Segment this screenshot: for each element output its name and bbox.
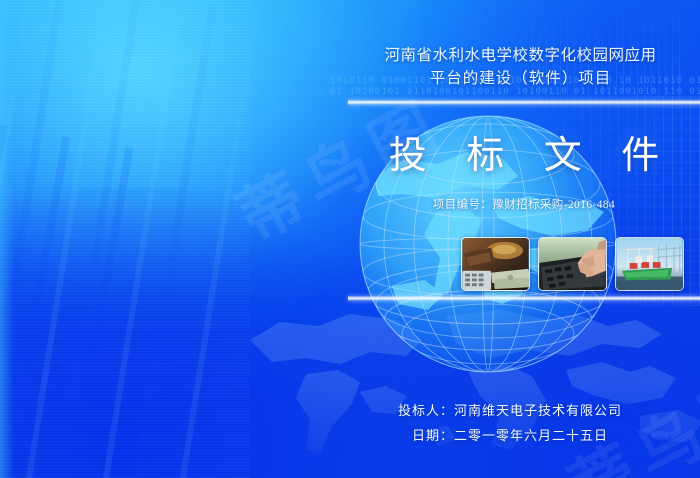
panel-divider-top xyxy=(348,100,700,105)
left-edge-highlight xyxy=(0,0,14,478)
bid-document-cover: 1010110 01001101 10110100101101 10101101… xyxy=(0,0,700,478)
main-title: 投 标 文 件 xyxy=(348,133,700,179)
cargo-ship-port-photo xyxy=(615,237,684,291)
footer-block: 投标人：河南维天电子技术有限公司 日期：二零一零年六月二十五日 xyxy=(330,398,690,448)
panel-divider-bottom xyxy=(348,296,700,301)
page-title-line-2: 平台的建设（软件）项目 xyxy=(348,67,693,90)
page-title: 河南省水利水电学校数字化校园网应用 平台的建设（软件）项目 xyxy=(348,44,693,90)
photo-strip xyxy=(461,237,685,291)
wallet-cash-calculator-photo xyxy=(461,237,530,291)
bidder-line: 投标人：河南维天电子技术有限公司 xyxy=(330,398,690,423)
date-line: 日期：二零一零年六月二十五日 xyxy=(330,423,690,448)
project-number: 项目编号：豫财招标采购-2016-484 xyxy=(348,196,700,212)
page-title-line-1: 河南省水利水电学校数字化校园网应用 xyxy=(348,44,693,67)
hands-typing-keyboard-photo xyxy=(538,237,607,291)
